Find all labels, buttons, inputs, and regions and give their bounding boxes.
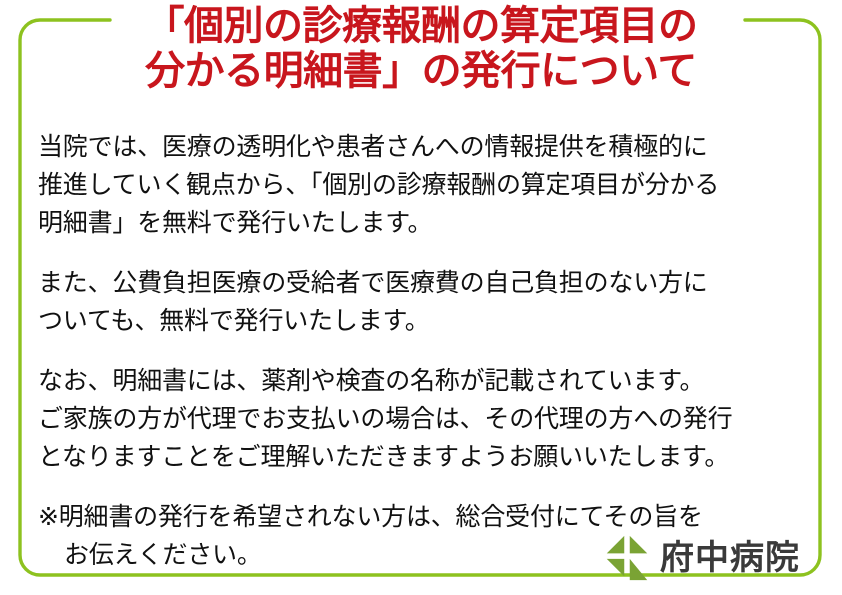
hospital-name-label: 府中病院 <box>660 541 800 575</box>
hospital-logo: 府中病院 <box>604 535 800 581</box>
poster-body: 当院では、医療の透明化や患者さんへの情報提供を積極的に 推進していく観点から、「… <box>38 128 798 574</box>
paragraph-public-expense: また、公費負担医療の受給者で医療費の自己負担のない方に ついても、無料で発行いた… <box>38 264 798 340</box>
fuchu-hospital-pinwheel-icon <box>604 535 650 581</box>
paragraph-intro: 当院では、医療の透明化や患者さんへの情報提供を積極的に 推進していく観点から、「… <box>38 128 798 242</box>
paragraph-contents-and-proxy: なお、明細書には、薬剤や検査の名称が記載されています。 ご家族の方が代理でお支払… <box>38 362 798 476</box>
poster-title: 「個別の診療報酬の算定項目の 分かる明細書」の発行について <box>0 4 842 94</box>
title-line-1: 「個別の診療報酬の算定項目の <box>0 4 842 49</box>
notice-poster: 「個別の診療報酬の算定項目の 分かる明細書」の発行について 当院では、医療の透明… <box>0 0 842 595</box>
title-line-2: 分かる明細書」の発行について <box>0 49 842 94</box>
